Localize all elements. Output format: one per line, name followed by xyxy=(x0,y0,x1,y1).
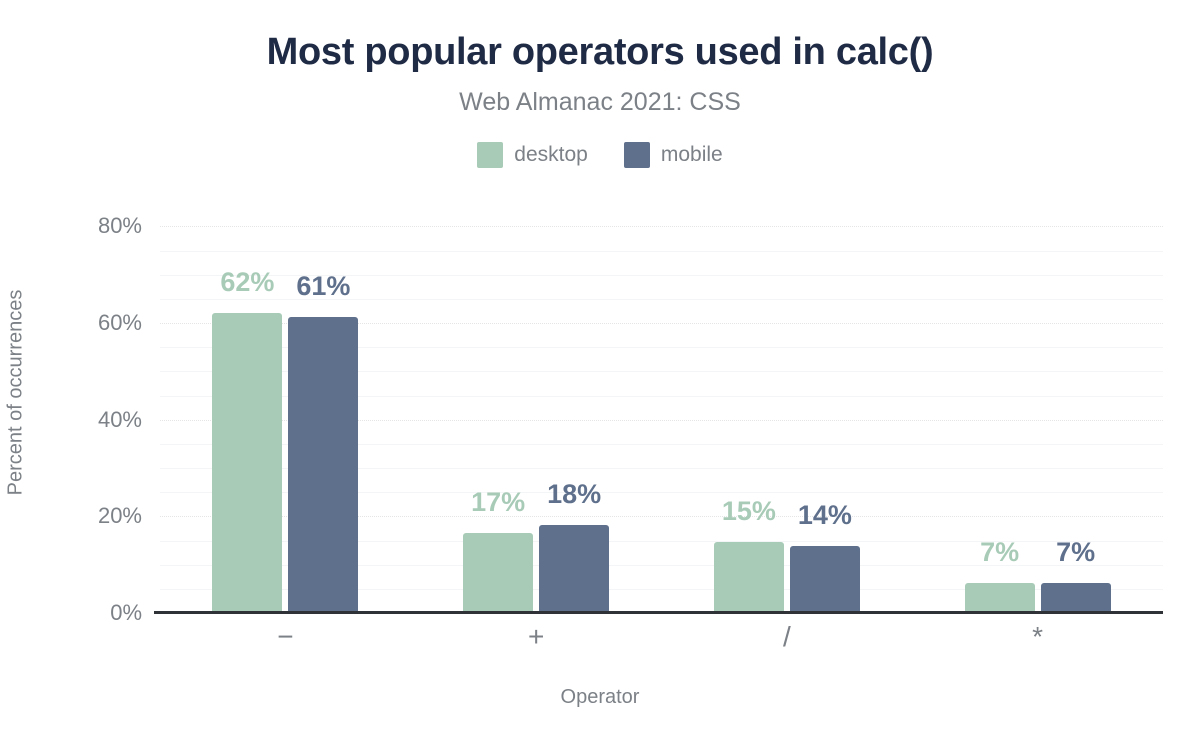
bar-desktop[interactable] xyxy=(463,533,533,613)
legend-item-desktop[interactable]: desktop xyxy=(477,142,588,168)
chart-legend: desktop mobile xyxy=(0,142,1200,168)
y-tick-label: 80% xyxy=(22,213,142,239)
bars-layer: 62%61%17%18%15%14%7%7% xyxy=(160,207,1163,613)
y-axis-title: Percent of occurrences xyxy=(5,113,28,673)
y-tick-label: 0% xyxy=(22,600,142,626)
y-tick-label: 40% xyxy=(22,407,142,433)
legend-swatch-mobile xyxy=(624,142,650,168)
chart-title: Most popular operators used in calc() xyxy=(0,32,1200,74)
chart-figure: Most popular operators used in calc() We… xyxy=(0,0,1200,742)
bar-desktop[interactable] xyxy=(965,583,1035,613)
bar-mobile[interactable] xyxy=(288,317,358,613)
x-tick-label: / xyxy=(697,621,877,653)
bar-desktop[interactable] xyxy=(714,542,784,613)
legend-swatch-desktop xyxy=(477,142,503,168)
bar-label-mobile: 14% xyxy=(765,500,885,531)
bar-label-mobile: 61% xyxy=(263,271,383,302)
y-tick-label: 60% xyxy=(22,310,142,336)
bar-label-mobile: 7% xyxy=(1016,537,1136,568)
x-tick-label: + xyxy=(446,621,626,653)
x-axis-title: Operator xyxy=(0,686,1200,709)
chart-subtitle: Web Almanac 2021: CSS xyxy=(0,89,1200,117)
bar-mobile[interactable] xyxy=(539,525,609,613)
legend-label-desktop: desktop xyxy=(514,143,588,167)
bar-mobile[interactable] xyxy=(1041,583,1111,613)
legend-label-mobile: mobile xyxy=(661,143,723,167)
bar-mobile[interactable] xyxy=(790,546,860,613)
y-tick-label: 20% xyxy=(22,503,142,529)
bar-label-mobile: 18% xyxy=(514,479,634,510)
x-tick-label: * xyxy=(948,621,1128,653)
x-axis-line xyxy=(154,611,1163,614)
plot-area: 0%20%40%60%80% 62%61%17%18%15%14%7%7% −+… xyxy=(160,207,1163,613)
bar-desktop[interactable] xyxy=(212,313,282,613)
x-tick-label: − xyxy=(195,621,375,653)
legend-item-mobile[interactable]: mobile xyxy=(624,142,723,168)
